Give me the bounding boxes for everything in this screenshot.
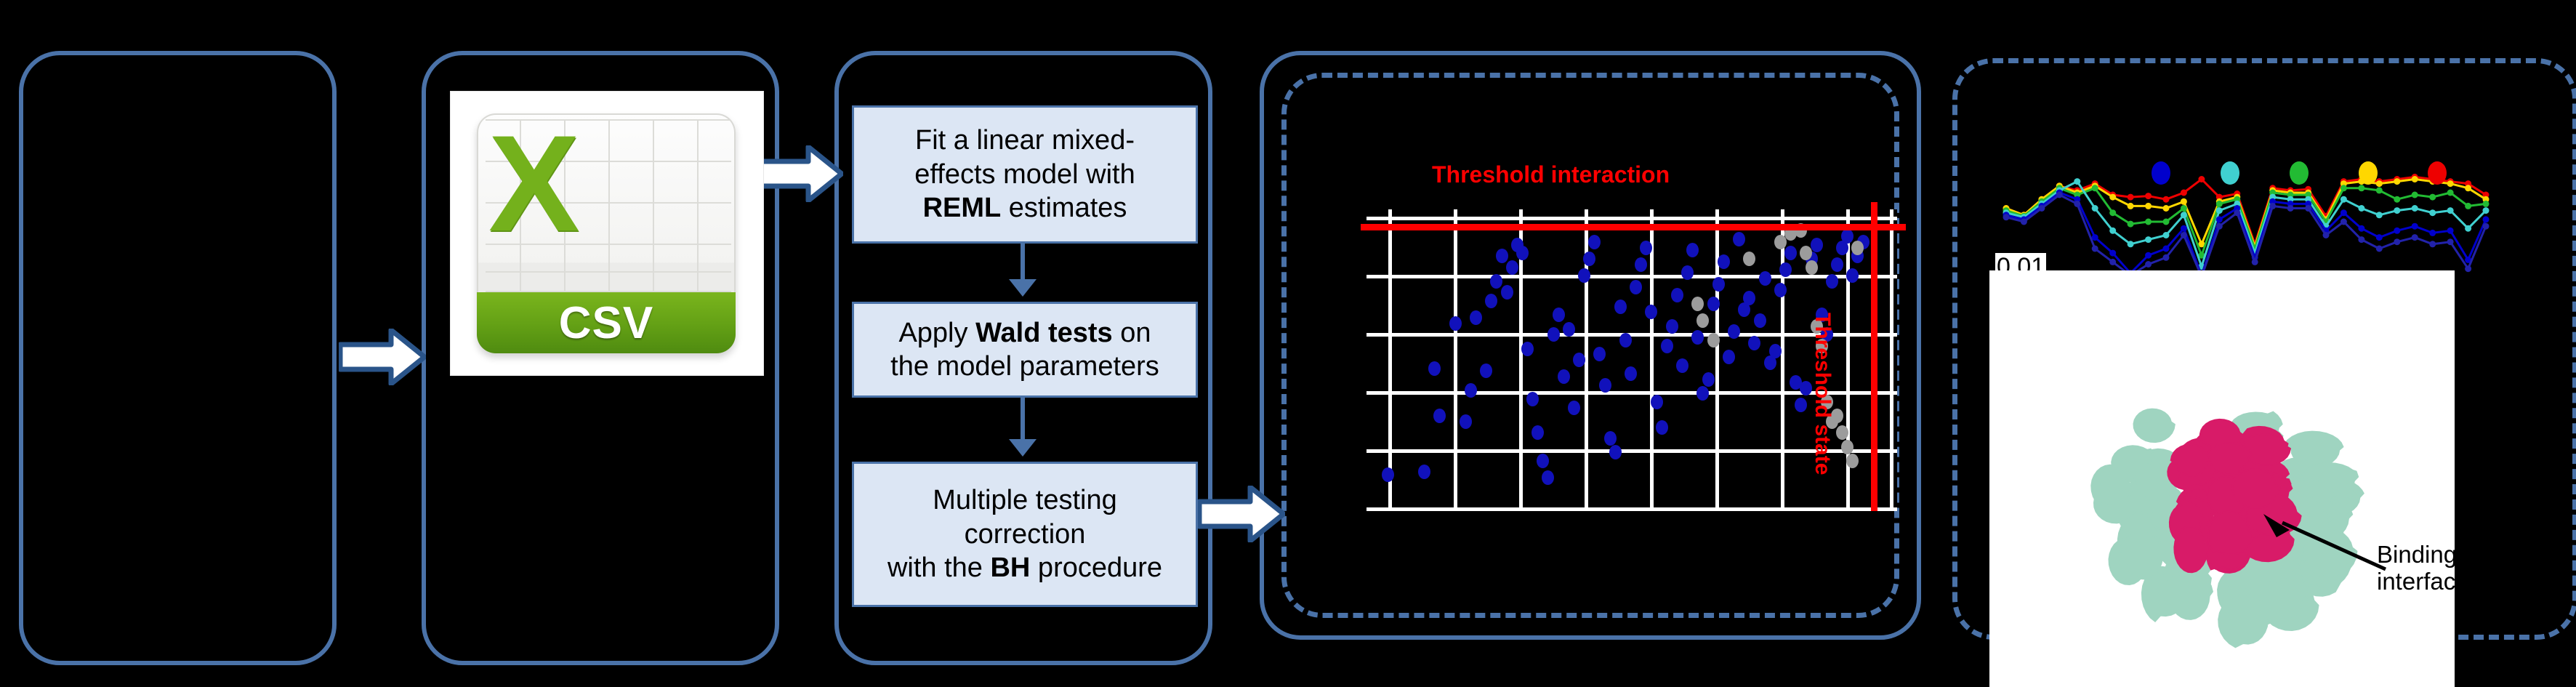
- binding-label-line2: interface: [2377, 569, 2469, 595]
- scatter-point: [1542, 470, 1554, 485]
- grid-line: [1367, 507, 1897, 511]
- axis-tick: [2078, 281, 2080, 292]
- scatter-point: [1846, 454, 1859, 468]
- scatter-point: [1691, 297, 1704, 311]
- scatter-point: [1625, 366, 1637, 381]
- step3-line2: correction: [965, 519, 1086, 550]
- axis-tick: [2299, 281, 2301, 292]
- scatter-point: [1470, 310, 1482, 325]
- scatter-point: [1573, 353, 1585, 367]
- peptide-tick-label: 184-199: [2278, 270, 2299, 289]
- threshold-state-label: Threshold state: [1810, 313, 1835, 475]
- scatter-point: [1811, 238, 1823, 252]
- step3-lead: with the: [887, 553, 991, 583]
- peptide-tick-label: 158-166: [2223, 270, 2244, 289]
- step2-line2: the model parameters: [890, 351, 1159, 382]
- scatter-point: [1645, 305, 1657, 319]
- grid-line: [1367, 275, 1897, 278]
- scatter-point: [1846, 268, 1859, 283]
- scatter-point: [1558, 369, 1570, 384]
- scatter-point: [1599, 378, 1611, 393]
- scatter-point: [1553, 308, 1565, 322]
- scatter-point: [1733, 232, 1745, 246]
- axis-tick: [2050, 281, 2053, 292]
- legend-dot: [2290, 161, 2309, 185]
- csv-tile: X CSV: [477, 113, 736, 353]
- peptide-axis: 1-1528-4463-7367-7581-101122-129135-1441…: [1989, 270, 2455, 358]
- scatter-point: [1748, 336, 1760, 350]
- scatter-point: [1501, 285, 1513, 300]
- scatter-point: [1583, 252, 1595, 266]
- step3-tail: procedure: [1030, 553, 1162, 583]
- step-wald-tests-box: Apply Wald tests on the model parameters: [852, 302, 1198, 398]
- scatter-point: [1656, 420, 1668, 435]
- peptide-tick-label: 277-284: [2416, 270, 2437, 289]
- axis-tick: [2189, 281, 2191, 292]
- scatter-point: [1547, 327, 1560, 342]
- right-arrow-icon: [1198, 486, 1285, 542]
- peptide-tick-label: 28-44: [2057, 270, 2078, 289]
- scatter-point: [1604, 431, 1617, 446]
- scatter-point: [1480, 363, 1492, 378]
- scatter-point: [1676, 358, 1689, 373]
- axis-tick: [2410, 281, 2412, 292]
- scatter-point: [1841, 229, 1853, 244]
- right-arrow-icon: [756, 145, 843, 202]
- threshold-interaction-label: Threshold interaction: [1432, 161, 1670, 188]
- scatter-point: [1578, 268, 1590, 283]
- scatter-point: [1754, 313, 1766, 328]
- legend-dot: [2221, 161, 2239, 185]
- scatter-point: [1784, 246, 1797, 260]
- threshold-interaction-line: [1361, 224, 1906, 230]
- scatter-point: [1696, 386, 1709, 401]
- scatter-point: [1666, 319, 1678, 334]
- peptide-tick-label: 135-144: [2195, 270, 2216, 289]
- csv-file-icon: X CSV: [451, 92, 763, 375]
- scatter-point: [1671, 288, 1683, 302]
- scatter-point: [1614, 300, 1627, 314]
- scatter-point: [1707, 297, 1720, 311]
- grid-line: [1890, 209, 1893, 509]
- step2-lead: Apply: [898, 318, 975, 348]
- scatter-point: [1696, 313, 1709, 328]
- scatter-point: [1651, 395, 1663, 409]
- scatter-point: [1718, 254, 1730, 269]
- scatter-point: [1619, 333, 1632, 347]
- peptide-tick-label: 258-266: [2388, 270, 2410, 289]
- step3-line1: Multiple testing: [933, 485, 1116, 515]
- axis-tick: [2354, 281, 2356, 292]
- grid-line: [1454, 209, 1457, 509]
- scatter-point: [1465, 383, 1477, 398]
- scatter-point: [1588, 235, 1601, 249]
- scatter-point: [1707, 333, 1720, 347]
- peptide-legend: [2152, 161, 2457, 186]
- step2-tail: on: [1113, 318, 1151, 348]
- legend-dot: [2152, 161, 2170, 185]
- scatter-point: [1563, 322, 1575, 337]
- scatter-point: [1433, 409, 1446, 423]
- axis-tick: [2327, 281, 2329, 292]
- legend-dot: [2359, 161, 2378, 185]
- grid-line: [1715, 209, 1719, 509]
- scatter-point: [1661, 339, 1673, 353]
- step1-bold: REML: [923, 193, 1002, 223]
- axis-tick: [2133, 281, 2136, 292]
- csv-format-band: CSV: [477, 292, 736, 353]
- scatter-point: [1428, 361, 1441, 376]
- scatter-point: [1506, 260, 1518, 275]
- scatter-point: [1516, 246, 1529, 260]
- connector-1: [1021, 244, 1025, 281]
- axis-tick: [2106, 281, 2108, 292]
- scatter-point: [1795, 398, 1807, 412]
- scatter-point: [1686, 243, 1699, 257]
- peptide-tick-label: 81-101: [2140, 270, 2161, 289]
- scatter-point: [1418, 465, 1430, 479]
- pointer-arrow-icon: [2261, 513, 2391, 578]
- scatter-point: [1759, 271, 1771, 286]
- grid-line: [1650, 209, 1654, 509]
- scatter-point: [1531, 425, 1544, 440]
- peptide-tick-label: 63-73: [2085, 270, 2106, 289]
- peptide-yaxis-label: 0.01: [1995, 253, 2046, 281]
- step3-bold: BH: [990, 553, 1030, 583]
- scatter-point: [1826, 274, 1838, 289]
- input-panel: [19, 51, 337, 665]
- scatter-point: [1806, 260, 1818, 275]
- axis-tick: [2271, 281, 2274, 292]
- connector-arrowhead-1: [1009, 279, 1037, 297]
- axis-tick: [2023, 281, 2025, 292]
- scatter-point: [1460, 414, 1472, 429]
- scatter-point: [1851, 241, 1864, 255]
- connector-arrowhead-2: [1009, 439, 1037, 457]
- peptide-tick-label: 122-129: [2168, 270, 2189, 289]
- binding-label-line1: Binding: [2377, 542, 2469, 569]
- scatter-point: [1382, 467, 1394, 482]
- scatter-point: [1640, 241, 1652, 255]
- grid-line: [1388, 209, 1392, 509]
- scatter-point: [1609, 445, 1622, 459]
- excel-x-glyph: X: [488, 115, 579, 252]
- axis-tick: [2382, 281, 2384, 292]
- peptide-xaxis-title: Peptide: [2195, 361, 2279, 390]
- peptide-tick-label: 200-214: [2306, 270, 2327, 289]
- scatter-point: [1743, 291, 1755, 305]
- scatter-point: [1521, 342, 1534, 356]
- scatter-point: [1702, 372, 1715, 387]
- scatter-point: [1490, 274, 1502, 289]
- scatter-point: [1712, 277, 1725, 292]
- axis-tick: [2161, 281, 2163, 292]
- threshold-state-line: [1871, 202, 1877, 511]
- scatter-point: [1485, 294, 1497, 308]
- right-arrow-icon: [339, 329, 426, 385]
- scatter-point: [1728, 324, 1740, 339]
- csv-format-label: CSV: [559, 297, 653, 349]
- binding-interface-label: Binding interface: [2377, 542, 2469, 595]
- scatter-point: [1593, 347, 1606, 361]
- peptide-tick-label: 241-257: [2361, 270, 2382, 289]
- step-multiple-testing-box: Multiple testing correction with the BH …: [852, 462, 1198, 607]
- scatter-point: [1635, 257, 1647, 272]
- step2-bold: Wald tests: [975, 318, 1113, 348]
- step-fit-model-box: Fit a linear mixed- effects model with R…: [852, 105, 1198, 244]
- scatter-point: [1841, 440, 1853, 454]
- step1-tail: estimates: [1001, 193, 1127, 223]
- step1-line2: effects model with: [914, 159, 1135, 190]
- scatter-point: [1537, 454, 1549, 468]
- peptide-tick-label: 67-75: [2112, 270, 2133, 289]
- scatter-point: [1723, 350, 1735, 364]
- scatter-point: [1831, 257, 1843, 272]
- axis-tick: [2244, 281, 2246, 292]
- scatter-point: [1449, 316, 1462, 331]
- scatter-point: [1496, 249, 1508, 263]
- scatter-point: [1526, 392, 1539, 406]
- step1-line1: Fit a linear mixed-: [915, 125, 1135, 156]
- connector-2: [1021, 398, 1025, 441]
- scatter-point: [1691, 330, 1704, 345]
- axis-tick: [2216, 281, 2218, 292]
- peptide-tick-label: 218-237: [2333, 270, 2354, 289]
- scatter-point: [1630, 280, 1642, 294]
- peptide-tick-label: 167-180: [2250, 270, 2271, 289]
- scatter-point: [1774, 283, 1787, 297]
- scatter-point: [1568, 401, 1580, 415]
- scatter-point: [1743, 252, 1755, 266]
- grid-line: [1367, 217, 1897, 220]
- legend-dot: [2428, 161, 2447, 185]
- scatter-point: [1769, 344, 1782, 358]
